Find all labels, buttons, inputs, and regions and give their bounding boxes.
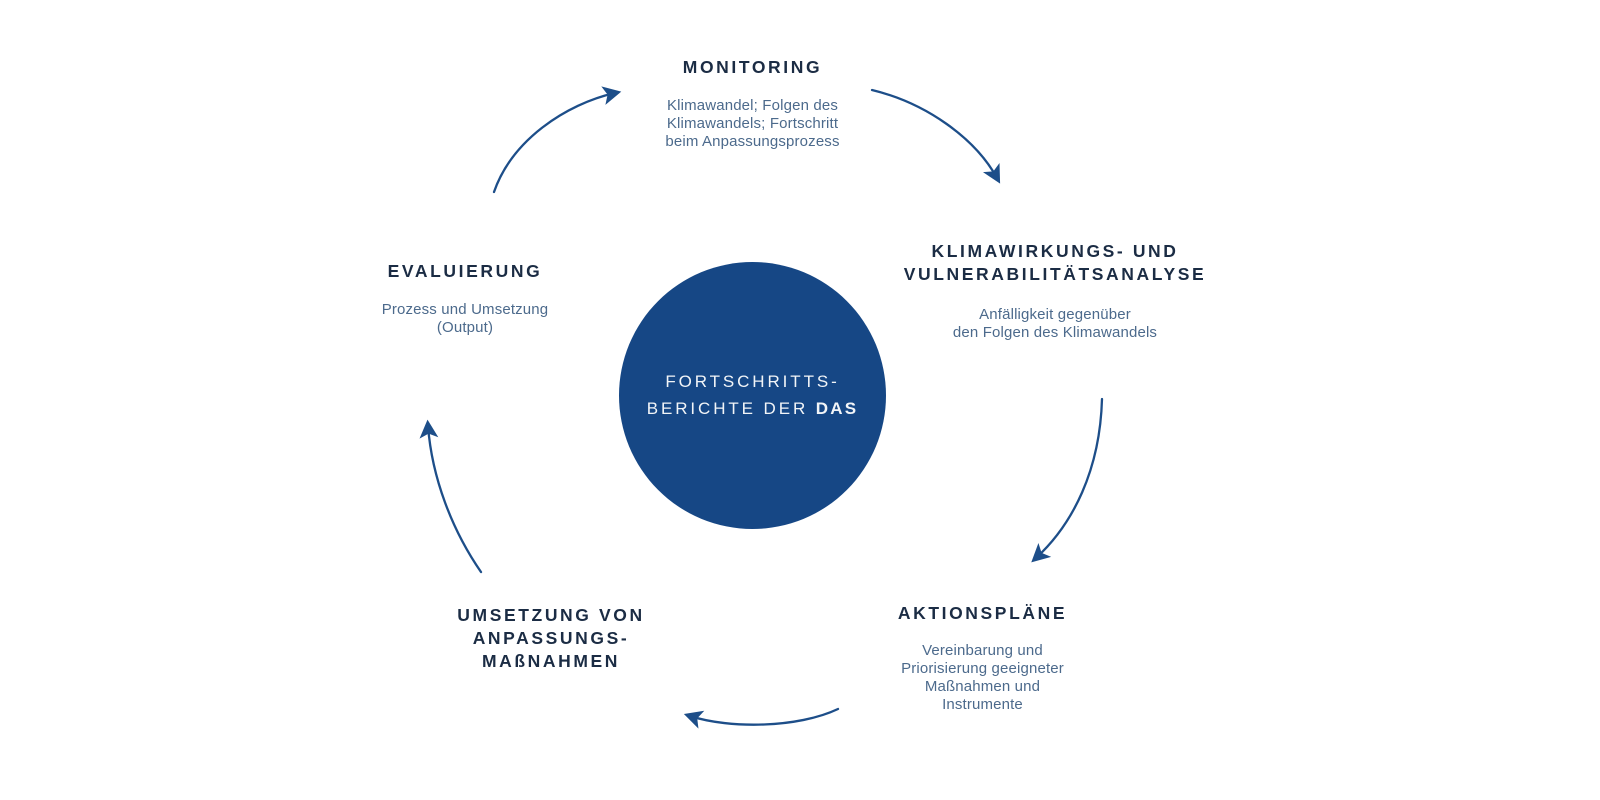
node-aktionsplaene-title: AKTIONSPLÄNE: [840, 602, 1125, 625]
node-evaluierung-description: Prozess und Umsetzung (Output): [320, 301, 610, 337]
node-monitoring-description: Klimawandel; Folgen des Klimawandels; Fo…: [570, 97, 935, 151]
center-label-line2-prefix: BERICHTE DER: [647, 399, 816, 418]
node-aktionsplaene: AKTIONSPLÄNE Vereinbarung und Priorisier…: [840, 602, 1125, 714]
arrow-umsetzung-to-evaluierung: [428, 426, 481, 572]
node-klimawirkungs-und-vulnerabilitaetsanalyse: KLIMAWIRKUNGS- UND VULNERABILITÄTSANALYS…: [855, 240, 1255, 342]
diagram-canvas: FORTSCHRITTS-BERICHTE DER DAS MONITORING…: [0, 0, 1600, 800]
center-label-accent: DAS: [816, 399, 859, 418]
node-monitoring: MONITORING Klimawandel; Folgen des Klima…: [570, 56, 935, 151]
arrow-aktionsplaene-to-umsetzung: [690, 709, 838, 725]
node-klimawirkungs-und-vulnerabilitaetsanalyse-title: KLIMAWIRKUNGS- UND VULNERABILITÄTSANALYS…: [855, 240, 1255, 286]
node-umsetzung-von-anpassungsmassnahmen-title: UMSETZUNG VON ANPASSUNGS- MAßNAHMEN: [390, 604, 712, 673]
node-evaluierung: EVALUIERUNG Prozess und Umsetzung (Outpu…: [320, 260, 610, 337]
center-label-line1: FORTSCHRITTS-: [665, 372, 839, 391]
node-evaluierung-title: EVALUIERUNG: [320, 260, 610, 283]
node-umsetzung-von-anpassungsmassnahmen: UMSETZUNG VON ANPASSUNGS- MAßNAHMEN: [390, 604, 712, 687]
center-circle-label: FORTSCHRITTS-BERICHTE DER DAS: [641, 369, 865, 423]
node-aktionsplaene-description: Vereinbarung und Priorisierung geeignete…: [840, 642, 1125, 714]
node-monitoring-title: MONITORING: [570, 56, 935, 79]
arrow-analyse-to-aktionsplaene: [1036, 399, 1102, 558]
center-circle: FORTSCHRITTS-BERICHTE DER DAS: [619, 262, 886, 529]
node-klimawirkungs-und-vulnerabilitaetsanalyse-description: Anfälligkeit gegenüber den Folgen des Kl…: [855, 306, 1255, 342]
